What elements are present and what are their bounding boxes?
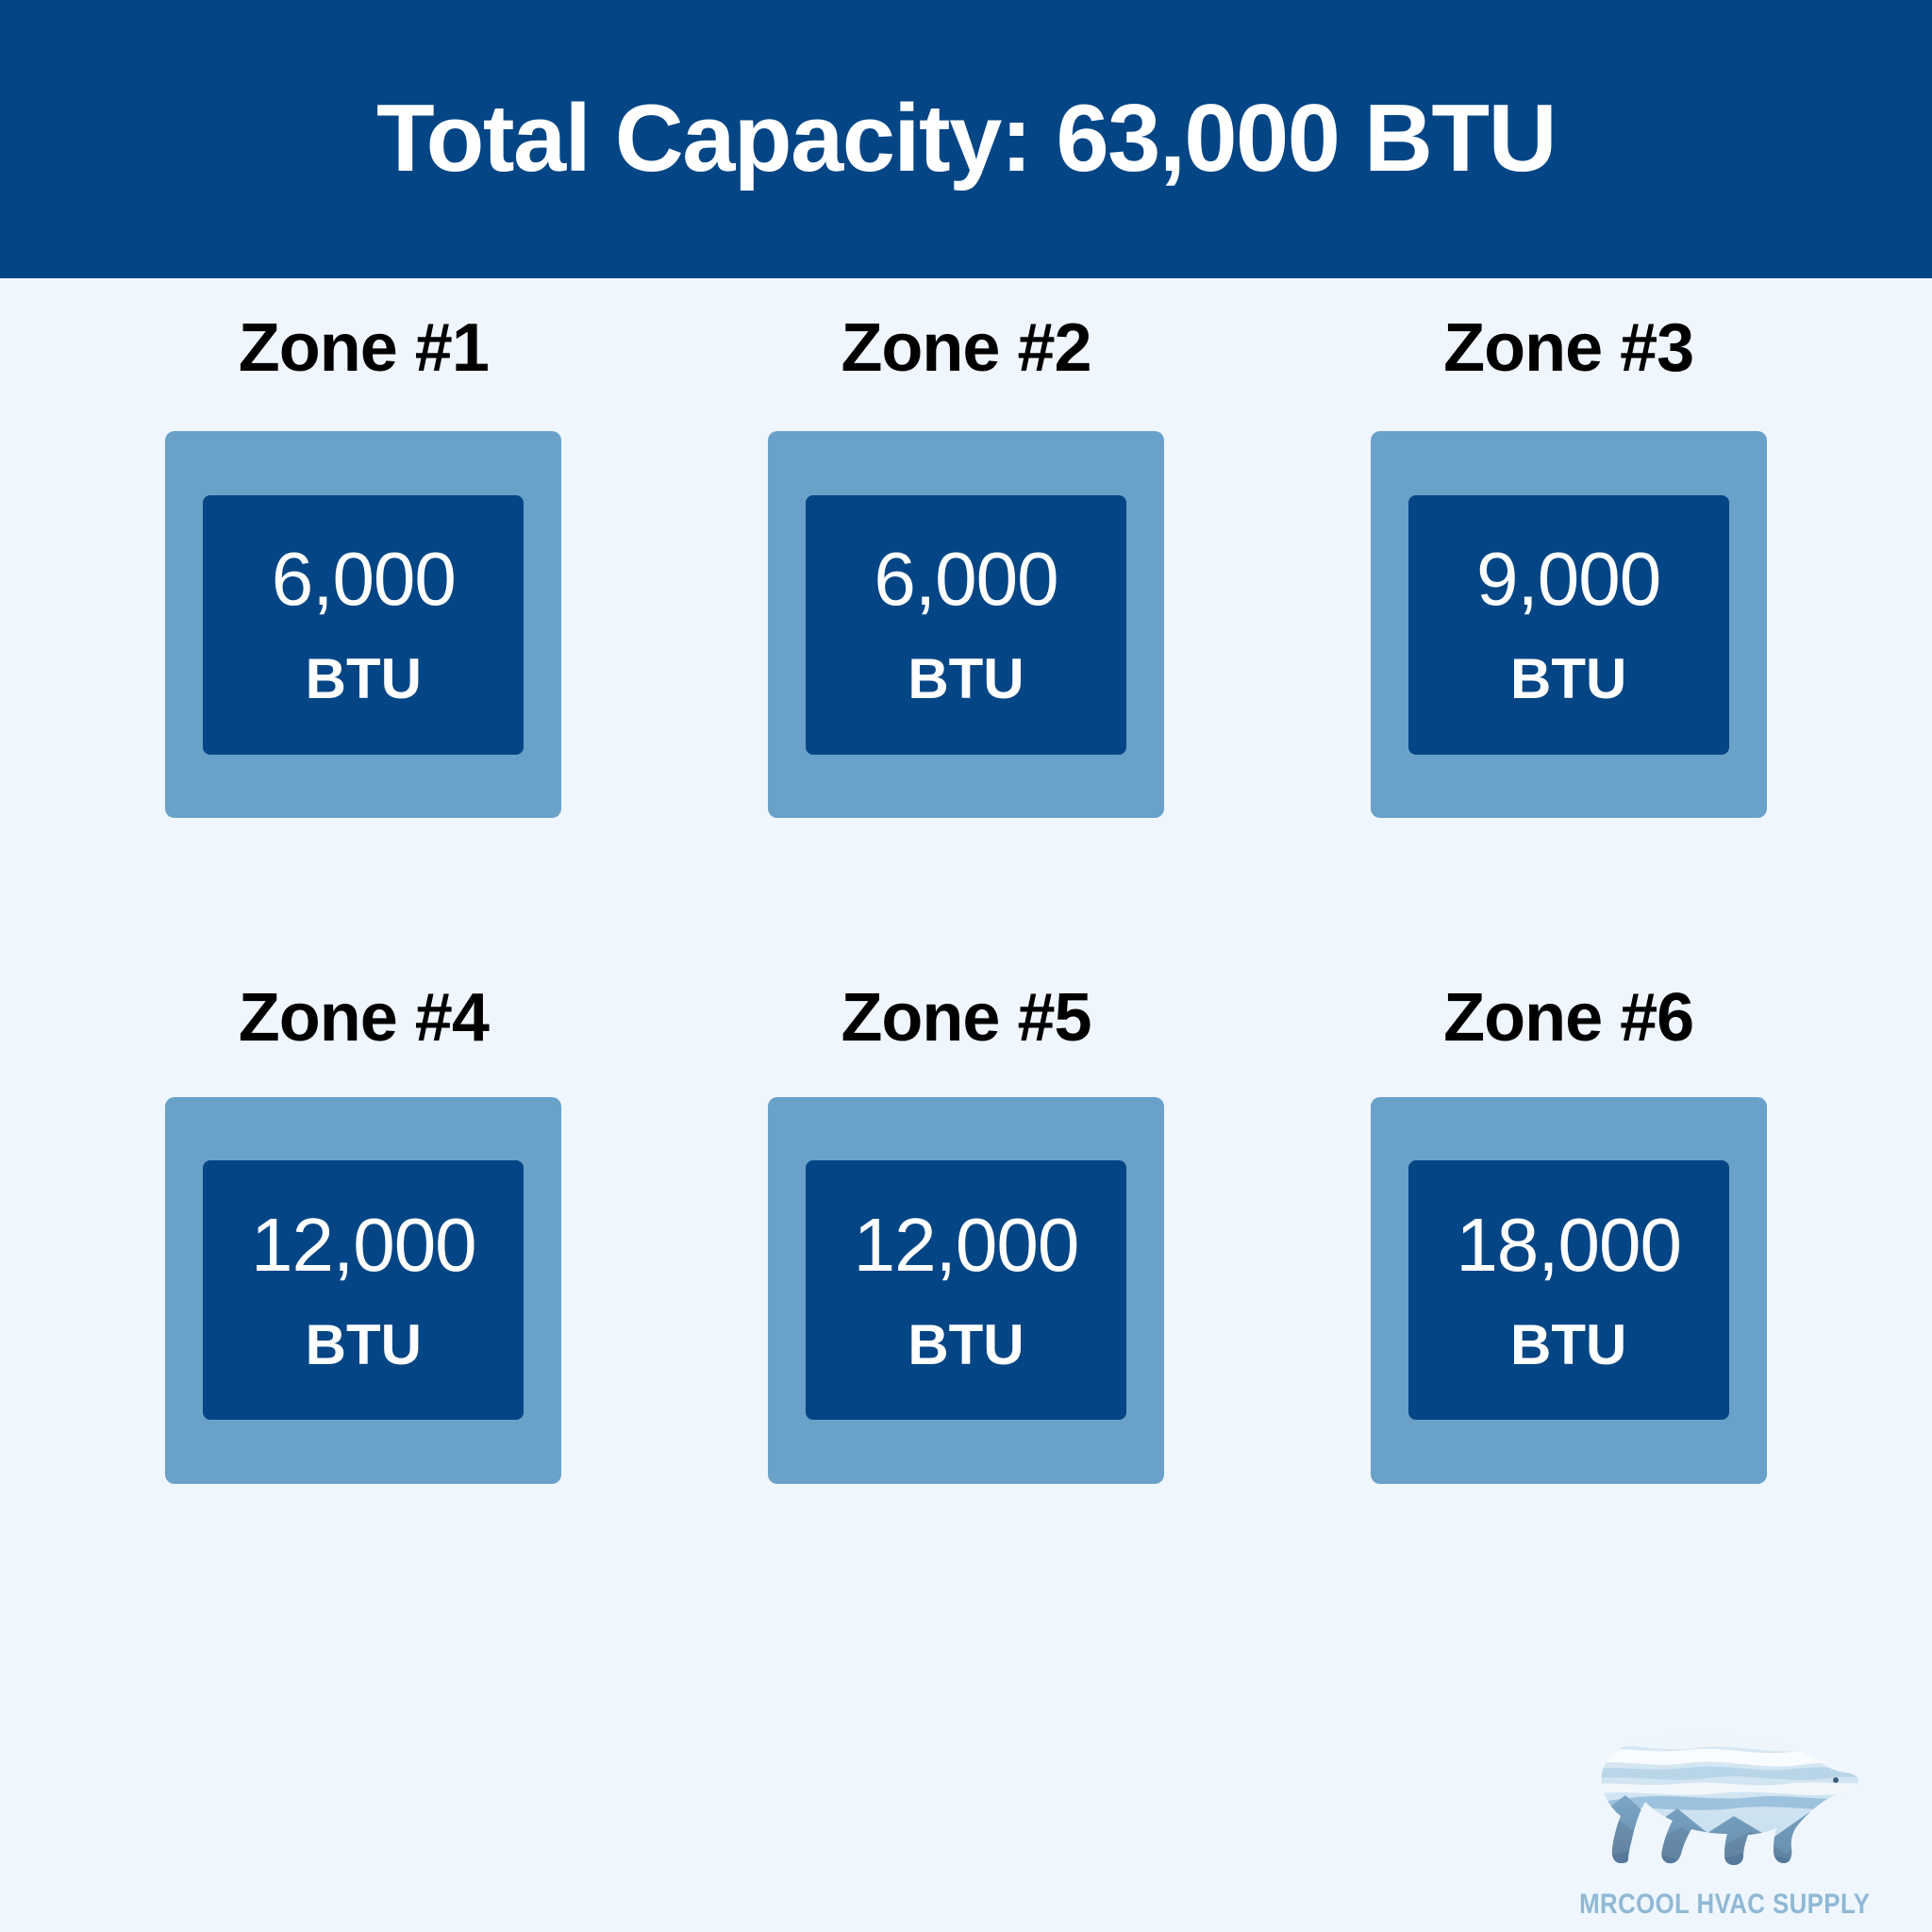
header-banner: Total Capacity: 63,000 BTU bbox=[0, 0, 1932, 278]
zone-value-5: 12,000 bbox=[854, 1207, 1079, 1283]
zone-card-2: 6,000 BTU bbox=[768, 431, 1164, 818]
zone-card-1: 6,000 BTU bbox=[165, 431, 561, 818]
zone-cell-4: Zone #4 12,000 BTU bbox=[62, 965, 665, 1652]
zone-label-4: Zone #4 bbox=[239, 965, 489, 1052]
zone-capacity-box-5: 12,000 BTU bbox=[806, 1160, 1126, 1420]
zone-cell-6: Zone #6 18,000 BTU bbox=[1267, 965, 1870, 1652]
zone-card-6: 18,000 BTU bbox=[1371, 1097, 1767, 1484]
zone-capacity-box-1: 6,000 BTU bbox=[203, 495, 524, 755]
zone-label-1: Zone #1 bbox=[239, 278, 489, 382]
zone-capacity-box-2: 6,000 BTU bbox=[806, 495, 1126, 755]
zone-cell-1: Zone #1 6,000 BTU bbox=[62, 278, 665, 965]
zone-label-6: Zone #6 bbox=[1443, 965, 1693, 1052]
zone-value-6: 18,000 bbox=[1456, 1207, 1681, 1283]
zone-value-4: 12,000 bbox=[251, 1207, 476, 1283]
zone-unit-6: BTU bbox=[1510, 1317, 1626, 1374]
zone-cell-5: Zone #5 12,000 BTU bbox=[665, 965, 1268, 1652]
zone-unit-4: BTU bbox=[306, 1317, 422, 1374]
polar-bear-icon bbox=[1583, 1722, 1866, 1887]
zone-card-5: 12,000 BTU bbox=[768, 1097, 1164, 1484]
zone-card-4: 12,000 BTU bbox=[165, 1097, 561, 1484]
zone-value-2: 6,000 bbox=[874, 541, 1058, 617]
zone-label-5: Zone #5 bbox=[841, 965, 1091, 1052]
zone-capacity-box-4: 12,000 BTU bbox=[203, 1160, 524, 1420]
zone-label-3: Zone #3 bbox=[1443, 278, 1693, 382]
zone-capacity-box-6: 18,000 BTU bbox=[1408, 1160, 1729, 1420]
zone-label-2: Zone #2 bbox=[841, 278, 1091, 382]
zone-unit-5: BTU bbox=[908, 1317, 1024, 1374]
zone-unit-3: BTU bbox=[1510, 651, 1626, 708]
zones-grid: Zone #1 6,000 BTU Zone #2 6,000 BTU Zone… bbox=[0, 278, 1932, 1651]
page-title: Total Capacity: 63,000 BTU bbox=[376, 92, 1556, 187]
zone-card-3: 9,000 BTU bbox=[1371, 431, 1767, 818]
brand-wordmark: MRCOOL HVAC SUPPLY bbox=[1579, 1890, 1870, 1919]
zone-unit-2: BTU bbox=[908, 651, 1024, 708]
zone-cell-3: Zone #3 9,000 BTU bbox=[1267, 278, 1870, 965]
zone-value-1: 6,000 bbox=[272, 541, 456, 617]
zone-capacity-box-3: 9,000 BTU bbox=[1408, 495, 1729, 755]
zone-unit-1: BTU bbox=[306, 651, 422, 708]
zone-value-3: 9,000 bbox=[1476, 541, 1660, 617]
zone-cell-2: Zone #2 6,000 BTU bbox=[665, 278, 1268, 965]
brand-logo: MRCOOL HVAC SUPPLY bbox=[1566, 1702, 1883, 1919]
